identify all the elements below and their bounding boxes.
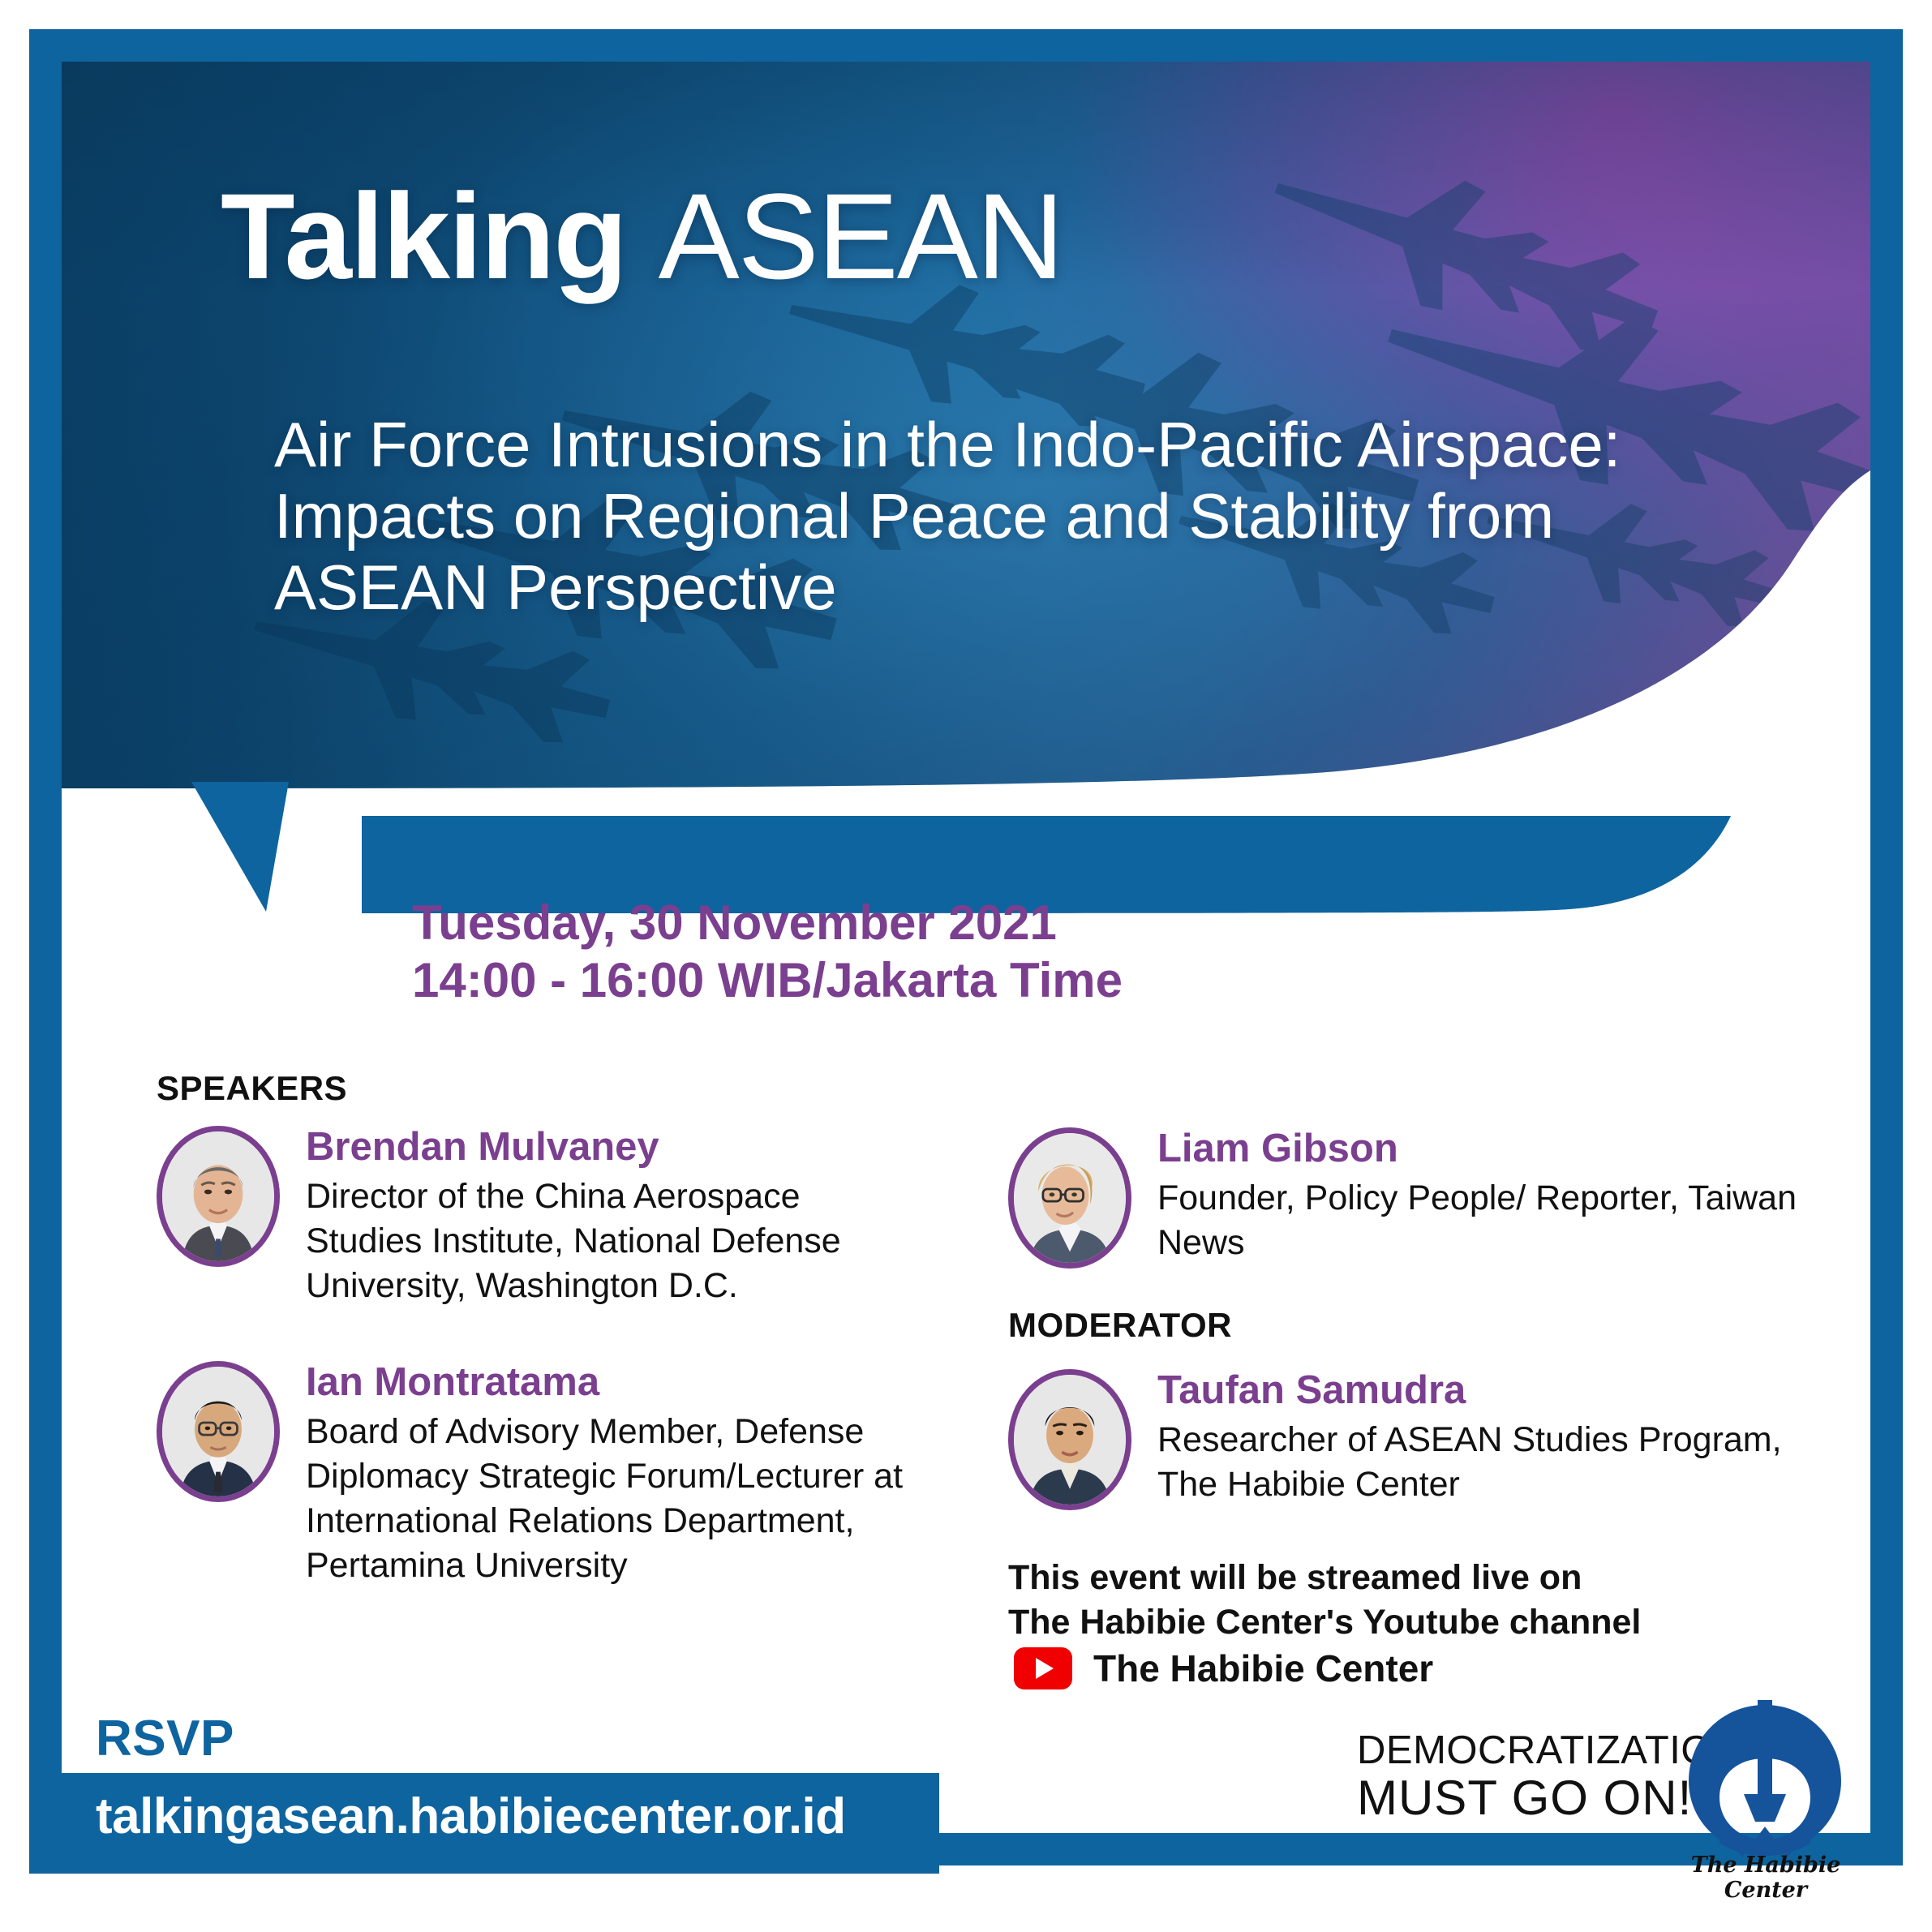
speaker-name: Brendan Mulvaney bbox=[306, 1126, 919, 1170]
title-bold: Talking bbox=[221, 168, 626, 304]
youtube-icon bbox=[1014, 1647, 1072, 1689]
speech-bubble-tail bbox=[191, 782, 362, 912]
moderator-role: Researcher of ASEAN Studies Program, The… bbox=[1157, 1418, 1819, 1507]
avatar bbox=[157, 1361, 280, 1502]
stream-note: This event will be streamed live on The … bbox=[1008, 1556, 1641, 1644]
speaker-card-mulvaney: Brendan Mulvaney Director of the China A… bbox=[157, 1126, 919, 1308]
frame-right-border bbox=[1870, 29, 1903, 1865]
event-poster: Talking ASEAN Air Force Intrusions in th… bbox=[0, 0, 1932, 1932]
page-title: Talking ASEAN bbox=[221, 175, 1063, 297]
rsvp-url[interactable]: talkingasean.habibiecenter.or.id bbox=[96, 1788, 846, 1845]
youtube-channel-link[interactable]: The Habibie Center bbox=[1014, 1646, 1433, 1690]
portrait-taufan-samudra bbox=[1014, 1375, 1126, 1505]
event-subtitle: Air Force Intrusions in the Indo-Pacific… bbox=[274, 409, 1702, 623]
avatar bbox=[1008, 1369, 1131, 1510]
speaker-role: Director of the China Aerospace Studies … bbox=[306, 1174, 919, 1308]
title-light: ASEAN bbox=[659, 168, 1063, 304]
moderator-card-taufan: Taufan Samudra Researcher of ASEAN Studi… bbox=[1008, 1369, 1819, 1510]
speaker-role: Board of Advisory Member, Defense Diplom… bbox=[306, 1410, 919, 1588]
moderator-name: Taufan Samudra bbox=[1157, 1369, 1819, 1413]
portrait-liam-gibson bbox=[1014, 1133, 1126, 1263]
moderator-label: MODERATOR bbox=[1008, 1306, 1232, 1345]
frame-left-border bbox=[29, 29, 62, 1865]
speaker-name: Liam Gibson bbox=[1157, 1127, 1819, 1171]
rsvp-label: RSVP bbox=[96, 1710, 234, 1767]
speaker-card-gibson: Liam Gibson Founder, Policy People/ Repo… bbox=[1008, 1127, 1819, 1269]
organization-name: The Habibie Center bbox=[1677, 1853, 1854, 1903]
hero-banner: Talking ASEAN Air Force Intrusions in th… bbox=[62, 62, 1870, 816]
frame-top-border bbox=[29, 29, 1903, 62]
event-datetime: Tuesday, 30 November 2021 14:00 - 16:00 … bbox=[412, 895, 1123, 1010]
avatar bbox=[157, 1126, 280, 1267]
event-date: Tuesday, 30 November 2021 bbox=[412, 895, 1123, 952]
stream-note-line2: The Habibie Center's Youtube channel bbox=[1008, 1600, 1641, 1645]
speaker-name: Ian Montratama bbox=[306, 1361, 919, 1405]
avatar bbox=[1008, 1127, 1131, 1269]
youtube-channel-name: The Habibie Center bbox=[1093, 1646, 1433, 1690]
speaker-role: Founder, Policy People/ Reporter, Taiwan… bbox=[1157, 1176, 1819, 1265]
portrait-ian-montratama bbox=[162, 1367, 274, 1496]
speakers-label: SPEAKERS bbox=[157, 1069, 347, 1108]
speaker-card-montratama: Ian Montratama Board of Advisory Member,… bbox=[157, 1361, 919, 1588]
event-time: 14:00 - 16:00 WIB/Jakarta Time bbox=[412, 952, 1123, 1010]
stream-note-line1: This event will be streamed live on bbox=[1008, 1556, 1641, 1600]
portrait-brendan-mulvaney bbox=[162, 1131, 274, 1261]
